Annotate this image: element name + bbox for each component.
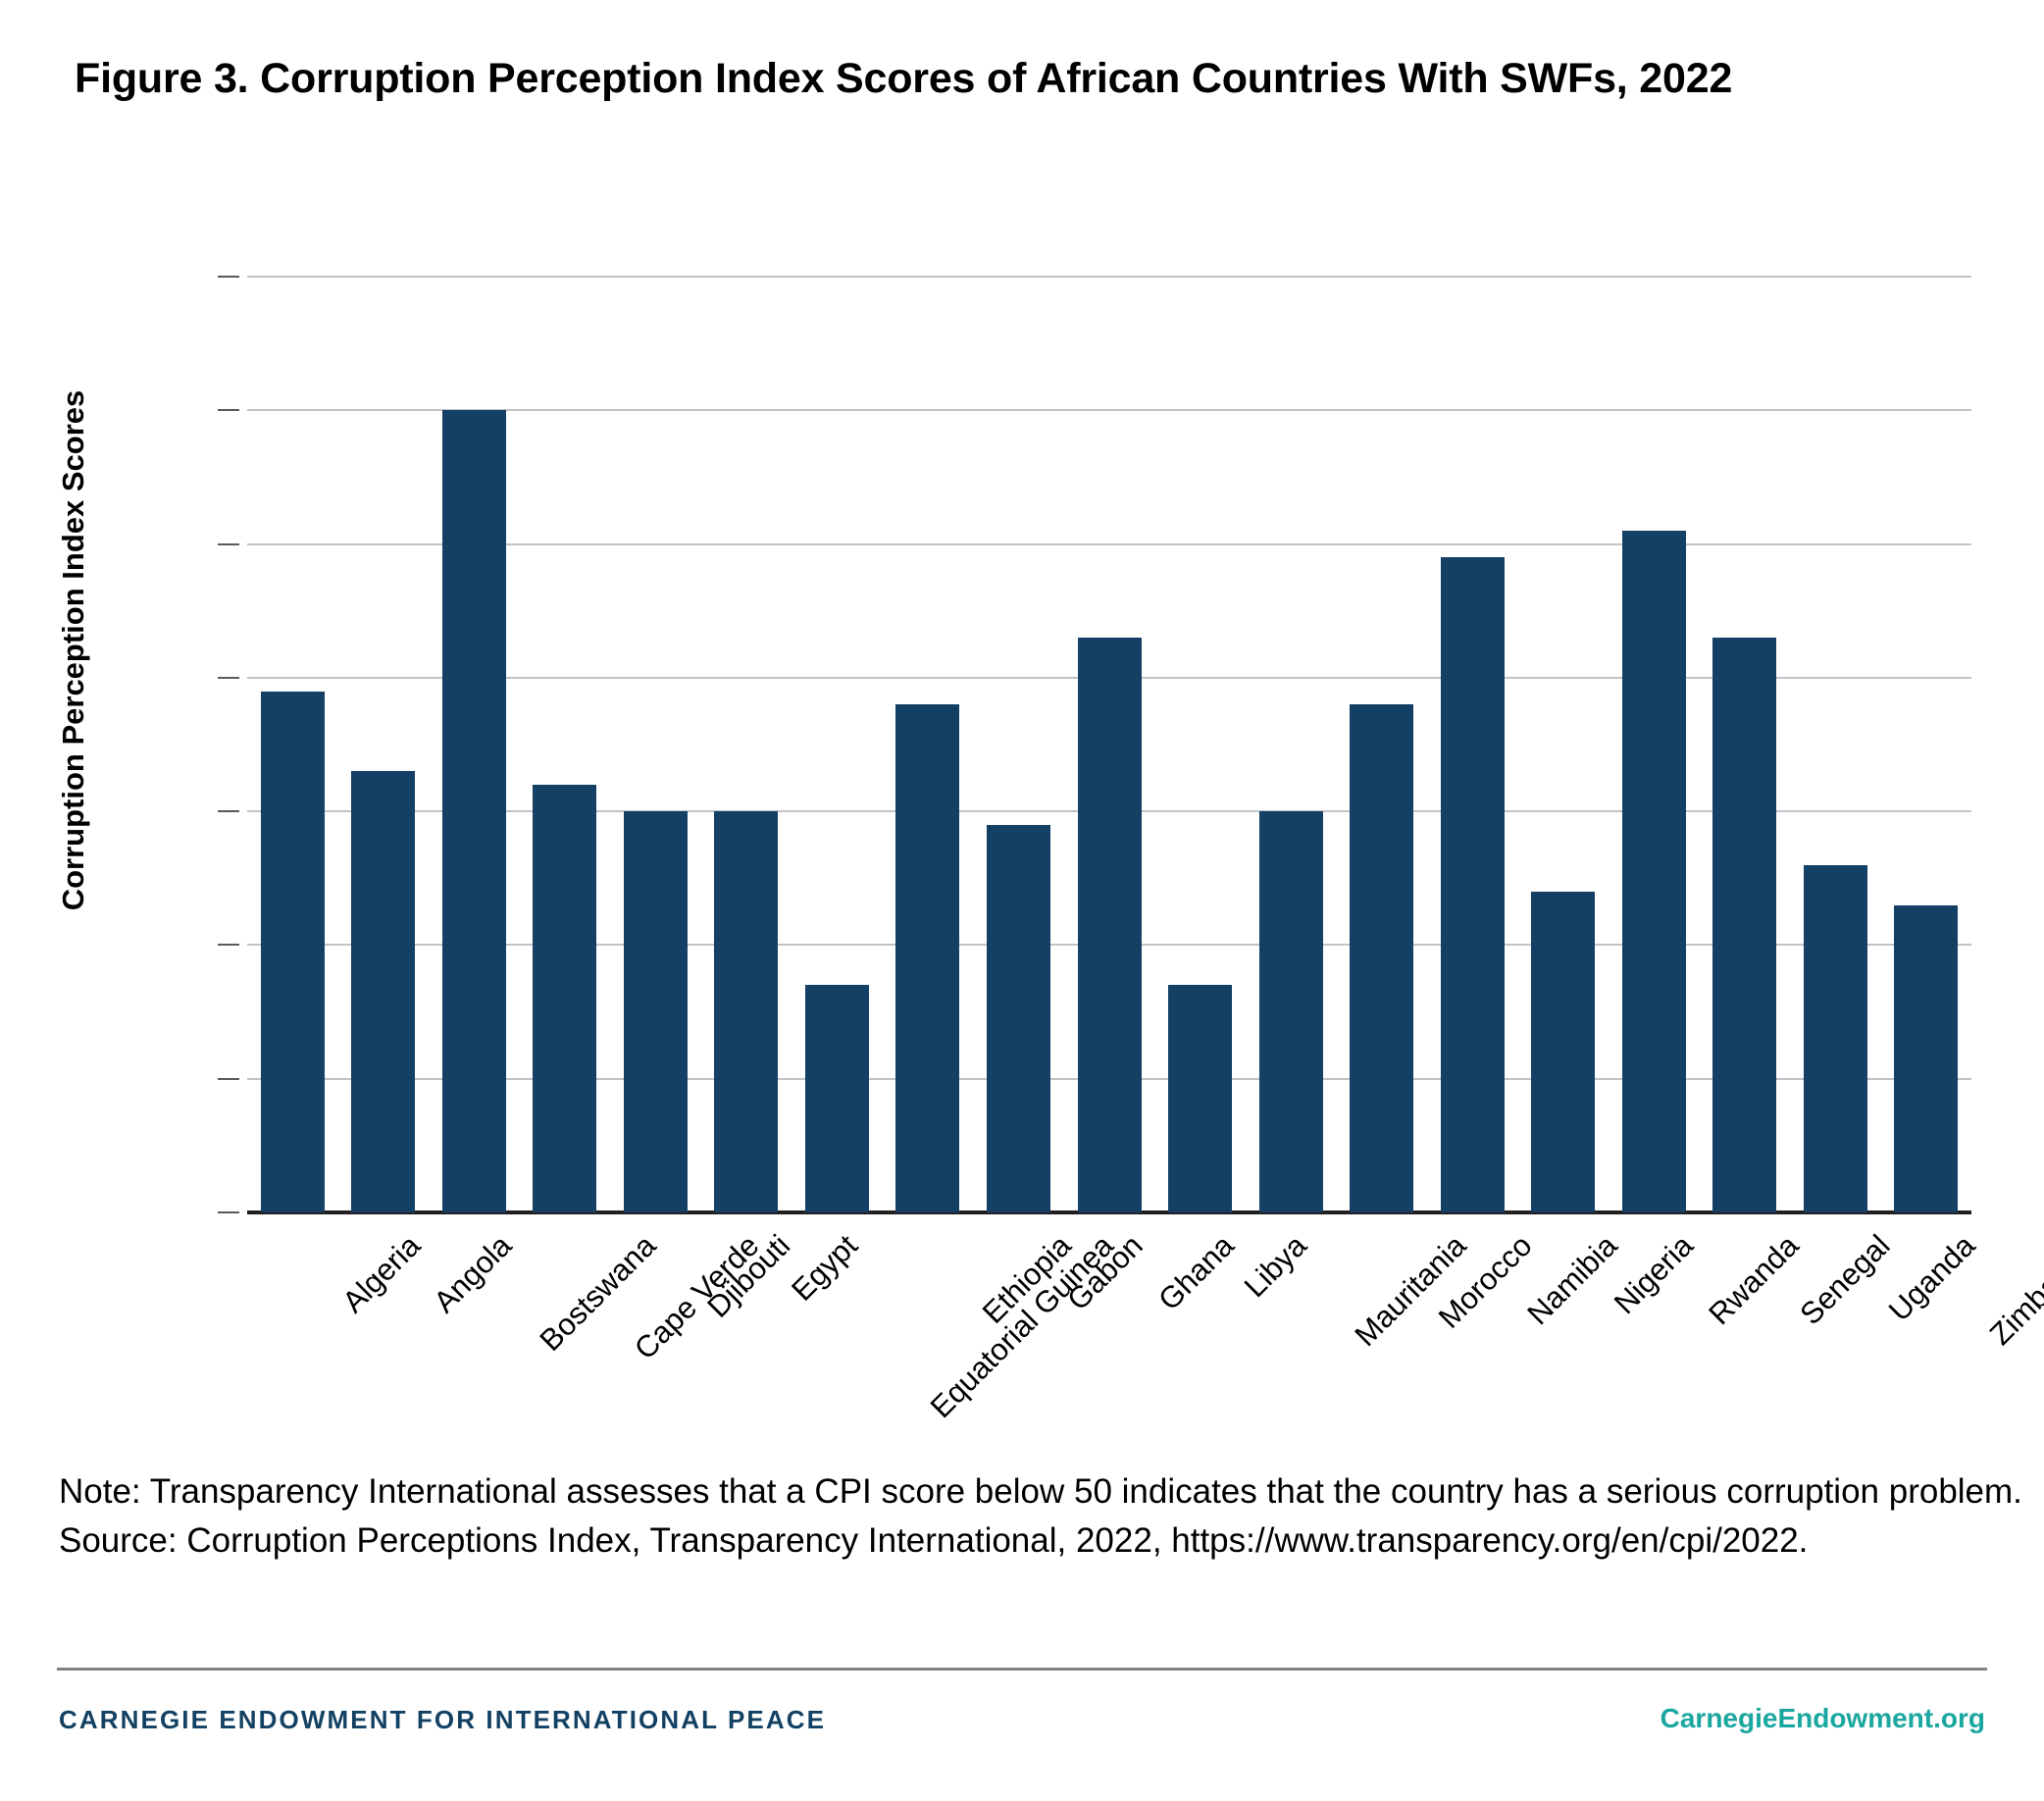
- footer-divider: [57, 1668, 1987, 1671]
- y-tick-mark: [218, 944, 239, 946]
- footer-website-link[interactable]: CarnegieEndowment.org: [1661, 1703, 1985, 1734]
- bar: [1441, 557, 1505, 1212]
- x-tick-label: Egypt: [785, 1228, 865, 1309]
- plot-area: 010203040506070: [247, 277, 1971, 1212]
- bar: [1622, 531, 1686, 1212]
- x-tick-label: Algeria: [336, 1228, 429, 1320]
- x-tick-label-text: Zimbabwe: [1983, 1228, 2044, 1353]
- bar: [714, 811, 778, 1212]
- x-tick-label: Ghana: [1151, 1228, 1241, 1317]
- x-tick-label-text: Senegal: [1793, 1228, 1897, 1332]
- x-tick-label-text: Ghana: [1151, 1228, 1241, 1317]
- x-tick-label-text: Uganda: [1882, 1228, 1982, 1328]
- bar: [987, 825, 1050, 1212]
- x-tick-label: Uganda: [1882, 1228, 1982, 1328]
- x-tick-label: Nigeria: [1607, 1228, 1700, 1321]
- x-tick-label: Libya: [1237, 1228, 1313, 1305]
- x-tick-label-text: Angola: [427, 1228, 519, 1320]
- bar: [533, 785, 596, 1212]
- bar: [1168, 985, 1232, 1212]
- y-tick-mark: [218, 1211, 239, 1213]
- x-tick-label-text: Nigeria: [1607, 1228, 1700, 1321]
- bar: [895, 704, 959, 1212]
- x-tick-label: Zimbabwe: [1983, 1228, 2044, 1353]
- bar: [1350, 704, 1413, 1212]
- bar: [1078, 638, 1142, 1212]
- bar: [1531, 892, 1595, 1212]
- x-tick-label: Angola: [427, 1228, 519, 1320]
- figure-page: Figure 3. Corruption Perception Index Sc…: [0, 0, 2044, 1801]
- x-tick-label: Rwanda: [1702, 1228, 1806, 1332]
- y-tick-mark: [218, 810, 239, 812]
- bar: [805, 985, 869, 1212]
- note-text: Note: Transparency International assesse…: [59, 1467, 2020, 1517]
- bar: [1259, 811, 1323, 1212]
- x-tick-label: Namibia: [1520, 1228, 1624, 1332]
- bar: [624, 811, 688, 1212]
- bar: [261, 692, 325, 1213]
- y-tick-mark: [218, 409, 239, 411]
- source-text: Source: Corruption Perceptions Index, Tr…: [59, 1517, 2020, 1566]
- bar: [351, 771, 415, 1212]
- bar: [1894, 905, 1958, 1212]
- bar: [442, 410, 506, 1212]
- gridline: [247, 276, 1971, 278]
- footer-organization: CARNEGIE ENDOWMENT FOR INTERNATIONAL PEA…: [59, 1705, 826, 1735]
- x-tick-label-text: Algeria: [336, 1228, 429, 1320]
- y-tick-mark: [218, 1078, 239, 1080]
- x-tick-label-text: Libya: [1237, 1228, 1313, 1305]
- x-tick-label-text: Namibia: [1520, 1228, 1624, 1332]
- y-axis-title: Corruption Perception Index Scores: [56, 376, 91, 925]
- y-tick-mark: [218, 677, 239, 679]
- bar: [1804, 865, 1867, 1212]
- x-tick-label-text: Rwanda: [1702, 1228, 1806, 1332]
- bar-chart: Corruption Perception Index Scores 01020…: [0, 0, 2044, 1432]
- y-tick-mark: [218, 543, 239, 545]
- bar: [1712, 638, 1776, 1212]
- figure-notes: Note: Transparency International assesse…: [59, 1467, 2020, 1565]
- x-tick-label: Senegal: [1793, 1228, 1897, 1332]
- y-tick-mark: [218, 276, 239, 278]
- x-tick-label-text: Egypt: [785, 1228, 865, 1309]
